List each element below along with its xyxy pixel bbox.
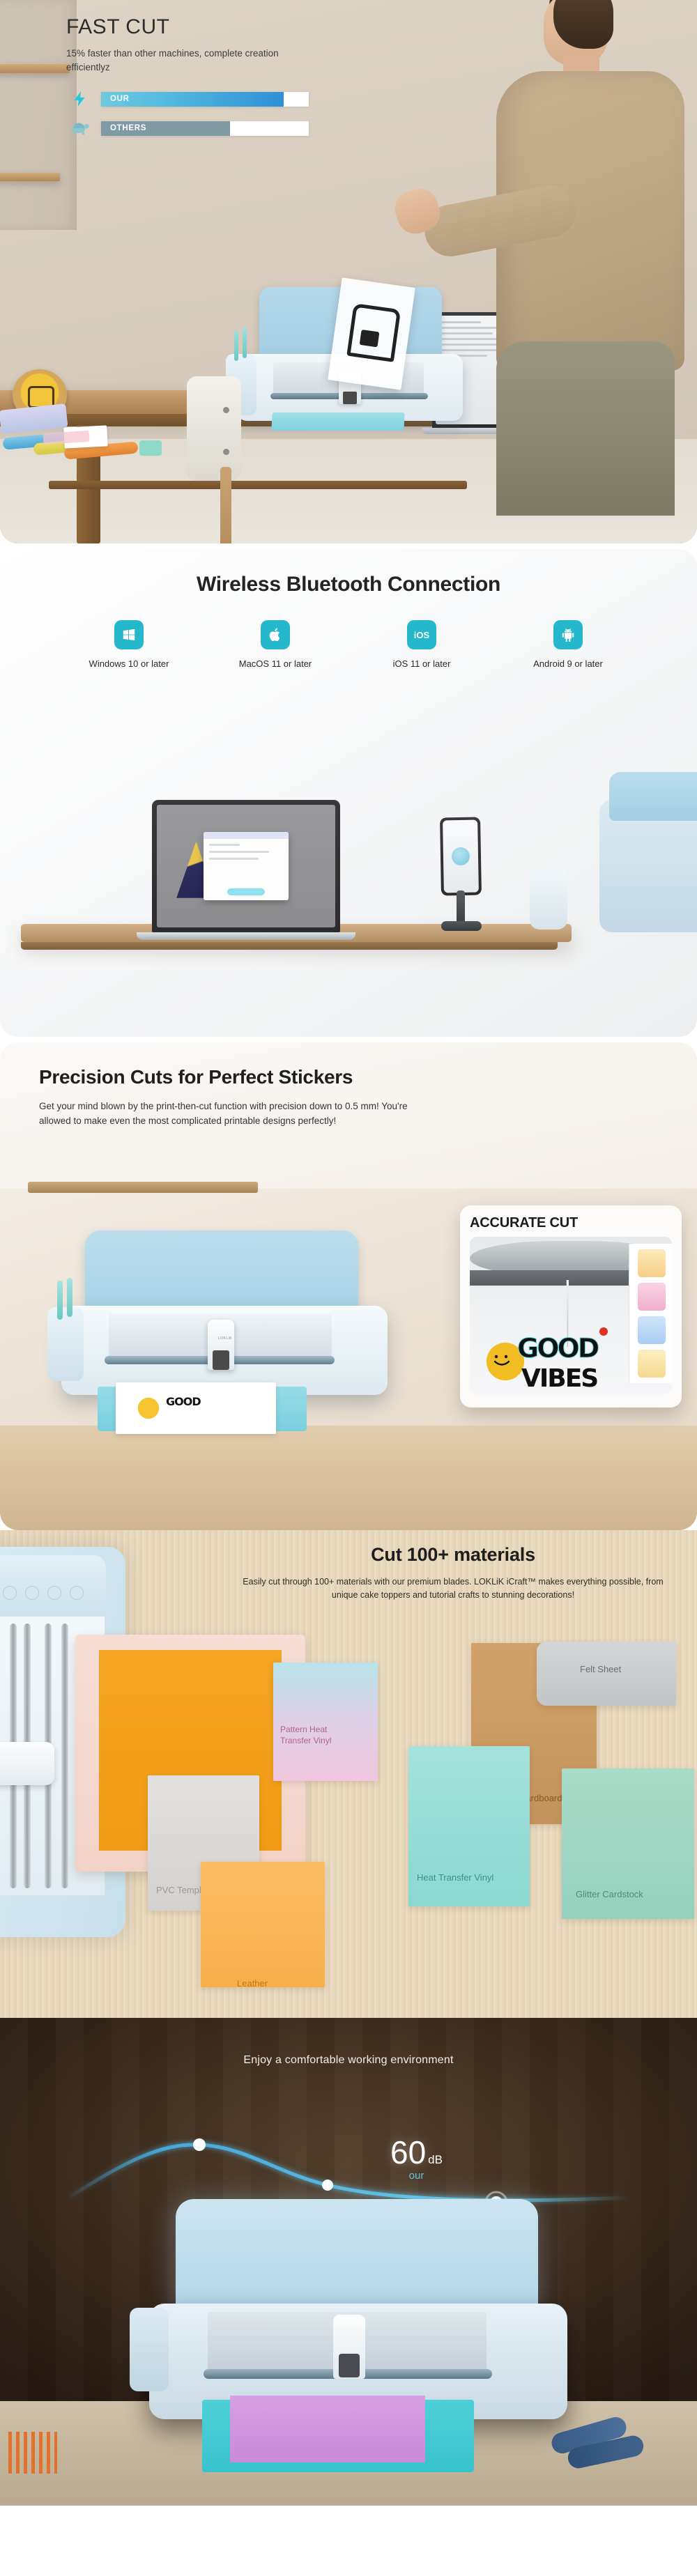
precision-copy: Precision Cuts for Perfect Stickers Get … xyxy=(0,1042,460,1129)
bar-row-others: OTHERS xyxy=(66,118,359,138)
vinyl-sheet xyxy=(0,403,68,434)
section-precision: Precision Cuts for Perfect Stickers Get … xyxy=(0,1042,697,1530)
swatch-label: Leather xyxy=(237,1978,268,1989)
tool-weeder xyxy=(57,1281,63,1320)
bar-fill-others: OTHERS xyxy=(101,121,230,136)
laptop-device xyxy=(152,800,340,932)
cutting-machine xyxy=(125,2199,585,2478)
laptop-app-canvas xyxy=(157,805,335,927)
material-rolls xyxy=(551,2415,676,2464)
platform-windows: Windows 10 or later xyxy=(84,620,174,670)
chair-back xyxy=(187,376,241,481)
flower-icon xyxy=(599,1327,608,1336)
fast-cut-subtitle: 15% faster than other machines, complete… xyxy=(66,47,296,74)
materials-body: Easily cut through 100+ materials with o… xyxy=(237,1575,669,1603)
bar-label-our: OUR xyxy=(110,95,130,103)
phone-stand-arm xyxy=(457,890,465,924)
design-thumbnail xyxy=(638,1249,666,1277)
cutting-mat xyxy=(271,412,404,431)
section-work-quietly: Enjoy a comfortable working environment … xyxy=(0,2018,697,2506)
design-thumbnail xyxy=(638,1283,666,1311)
machine-guide-rod xyxy=(61,1624,68,1888)
tool-hook xyxy=(243,327,247,358)
background-shelf xyxy=(28,1182,258,1193)
chair-leg xyxy=(220,467,231,543)
machine-cut-head: LOKLiK xyxy=(208,1320,234,1370)
bluetooth-photo-scene xyxy=(0,758,697,1037)
app-sidebar-preview xyxy=(629,1244,672,1383)
precision-body: Get your mind blown by the print-then-cu… xyxy=(39,1100,415,1129)
tool-cup xyxy=(530,870,567,930)
smiley-face-icon xyxy=(488,1351,516,1369)
precision-photo-scene: LOKLiK GOOD ACCURATE CUT xyxy=(0,1189,697,1530)
swatch-felt-sheet: Felt Sheet xyxy=(537,1642,676,1706)
decibel-readout: 60 dB our xyxy=(390,2136,443,2182)
sticker-word-good: GOOD xyxy=(517,1333,597,1364)
bluetooth-title: Wireless Bluetooth Connection xyxy=(0,549,697,596)
wall-shelf-bottom xyxy=(0,173,60,181)
purple-vinyl-sheet xyxy=(230,2396,425,2462)
tool-weeder xyxy=(234,330,238,361)
power-button[interactable] xyxy=(3,1586,17,1600)
bar-fill-our: OUR xyxy=(101,92,284,107)
phone-stand xyxy=(446,890,475,932)
bar-row-our: OUR xyxy=(66,89,359,109)
person-using-machine xyxy=(481,0,697,543)
decibel-unit: dB xyxy=(428,2153,443,2167)
desk-surface xyxy=(0,1426,697,1530)
chair-knob xyxy=(223,407,229,413)
machine-carriage xyxy=(0,1742,54,1785)
cut-button[interactable] xyxy=(47,1586,61,1600)
platform-ios-label: iOS 11 or later xyxy=(376,658,467,670)
section-materials: Pattern Heat Transfer Vinyl Kraft Cardbo… xyxy=(0,1530,697,2018)
cutting-machine-side xyxy=(599,800,697,932)
swatch-pattern-heat-transfer-vinyl: Pattern Heat Transfer Vinyl xyxy=(273,1663,378,1781)
swatch-label: Glitter Cardstock xyxy=(576,1889,643,1899)
machine-cut-head xyxy=(333,2315,365,2379)
apple-icon xyxy=(261,620,290,649)
tool-cup xyxy=(130,2308,169,2391)
platform-android: Android 9 or later xyxy=(523,620,613,670)
machine-tools xyxy=(233,330,251,361)
tool-hook xyxy=(67,1278,72,1317)
swatch-heat-transfer-vinyl: Heat Transfer Vinyl xyxy=(408,1746,530,1906)
app-dialog xyxy=(204,832,289,901)
materials-copy: Cut 100+ materials Easily cut through 10… xyxy=(237,1544,669,1603)
callout-magnified-image: GOOD VIBES xyxy=(470,1237,672,1394)
wall-panel xyxy=(0,0,77,230)
design-thumbnail xyxy=(638,1316,666,1344)
swatch-label: Felt Sheet xyxy=(580,1664,621,1674)
lap-trousers xyxy=(496,341,675,516)
swatch-leather: Leather xyxy=(201,1862,325,1987)
platform-list: Windows 10 or later MacOS 11 or later iO… xyxy=(0,620,697,670)
machine-lid xyxy=(176,2199,538,2316)
wall-shelf-top xyxy=(0,64,70,73)
turtle-icon xyxy=(66,118,94,138)
machine-lid xyxy=(85,1231,358,1314)
cutting-machine: LOKLiK GOOD xyxy=(49,1231,397,1433)
sun-sticker-art xyxy=(132,1392,164,1424)
dialog-primary-button[interactable] xyxy=(227,888,265,895)
speed-comparison-chart: OUR OTHERS xyxy=(66,89,359,138)
bar-track-others: OTHERS xyxy=(101,121,309,136)
swatch-glitter-cardstock: Glitter Cardstock xyxy=(562,1768,694,1919)
platform-macos-label: MacOS 11 or later xyxy=(230,658,321,670)
android-icon xyxy=(553,620,583,649)
machine-control-panel xyxy=(0,1555,106,1617)
fast-cut-copy: FAST CUT 15% faster than other machines,… xyxy=(66,15,359,148)
chair xyxy=(180,376,244,543)
swatch-label: Pattern Heat Transfer Vinyl xyxy=(280,1724,331,1746)
callout-title: ACCURATE CUT xyxy=(470,1215,672,1231)
precision-title: Precision Cuts for Perfect Stickers xyxy=(39,1066,460,1088)
swatch-label: Heat Transfer Vinyl xyxy=(417,1872,493,1883)
platform-android-label: Android 9 or later xyxy=(523,658,613,670)
section-bluetooth: Wireless Bluetooth Connection Windows 10… xyxy=(0,549,697,1037)
bar-track-our: OUR xyxy=(101,92,309,107)
green-chip xyxy=(139,440,162,456)
accurate-cut-callout: ACCURATE CUT GOOD VIBES xyxy=(460,1205,682,1407)
wooden-shelf-edge xyxy=(21,942,558,950)
sticker-text: GOOD xyxy=(166,1395,201,1408)
machine-brand-label: LOKLiK xyxy=(212,1336,238,1341)
windows-icon xyxy=(114,620,144,649)
chair-knob xyxy=(223,449,229,455)
fast-cut-title: FAST CUT xyxy=(66,15,359,38)
design-thumbnail xyxy=(638,1350,666,1378)
smartphone xyxy=(440,817,482,896)
orange-strips xyxy=(8,2432,57,2474)
decibel-value: 60 xyxy=(390,2136,426,2168)
materials-title: Cut 100+ materials xyxy=(237,1544,669,1566)
decibel-owner-label: our xyxy=(390,2170,443,2182)
ios-icon: iOS xyxy=(407,620,436,649)
laptop-screen xyxy=(152,800,340,932)
laptop-base xyxy=(137,932,355,940)
sticker-word-vibes: VIBES xyxy=(521,1364,597,1393)
desk-rail xyxy=(49,481,467,489)
quiet-tagline: Enjoy a comfortable working environment xyxy=(0,2054,697,2067)
lightning-bolt-icon xyxy=(66,89,94,109)
machine-tools xyxy=(56,1281,79,1317)
phone-stand-base xyxy=(441,921,482,931)
section-fast-cut: FAST CUT 15% faster than other machines,… xyxy=(0,0,697,543)
load-button[interactable] xyxy=(70,1586,84,1600)
dialog-titlebar xyxy=(204,832,289,839)
phone-app-thumbnail xyxy=(452,847,470,865)
pause-button[interactable] xyxy=(25,1586,39,1600)
platform-ios: iOS iOS 11 or later xyxy=(376,620,467,670)
held-design-sheet xyxy=(328,277,415,390)
platform-windows-label: Windows 10 or later xyxy=(84,658,174,670)
quiet-photo-scene xyxy=(0,2241,697,2506)
bar-label-others: OTHERS xyxy=(110,124,146,132)
phone-screen xyxy=(443,820,479,893)
machine-lid xyxy=(609,772,697,821)
platform-macos: MacOS 11 or later xyxy=(230,620,321,670)
tool-cup xyxy=(47,1307,84,1381)
